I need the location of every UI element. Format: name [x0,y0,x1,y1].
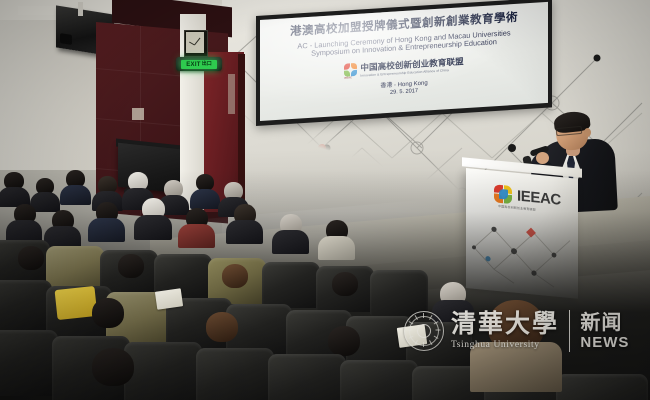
conference-photo-scene: EXIT 出口 港澳高校加盟授牌儀式暨創新創業教育學術 AC - Launchi… [0,0,650,400]
attendee-head [206,312,238,342]
watermark-divider [569,310,570,352]
attendee-head [118,254,144,278]
attendee-head [92,298,124,328]
foreground-attendee-head [92,348,134,386]
attendee-head [328,326,360,356]
watermark-news-cjk: 新闻 [580,313,629,333]
projector-arm [78,2,83,16]
ieeac-pinwheel-icon: IEEAC [344,63,357,77]
auditorium-chair[interactable] [0,330,58,396]
projection-screen: 港澳高校加盟授牌儀式暨創新創業教育學術 AC - Launching Cerem… [260,2,548,121]
slide-org-logo-row: IEEAC 中国高校创新创业教育联盟 Innovation & Entrepre… [344,55,463,78]
wall-outlet-plate [132,108,144,120]
attendee-head [222,264,248,288]
attendee-head [332,272,358,296]
attendee-shoulders [272,230,309,254]
watermark: 清華大學 Tsinghua University 新闻 NEWS [404,303,644,359]
watermark-news-block: 新闻 NEWS [580,313,629,350]
attendee-shoulders [318,236,355,260]
audience-seating-area [0,170,650,400]
auditorium-chair[interactable] [124,342,202,400]
auditorium-chair[interactable] [340,360,418,400]
attendee-shoulders [178,224,215,248]
attendee-shoulders [88,218,125,242]
paper-handout [155,288,183,309]
exit-sign-label: EXIT [186,62,201,68]
speaker-ear [584,128,591,137]
watermark-university-cjk: 清華大學 [451,312,559,337]
attendee-shoulders [60,185,91,205]
auditorium-chair[interactable] [556,374,648,400]
ieeac-pinwheel-caption: IEEAC [344,76,351,79]
auditorium-chair[interactable] [0,280,52,334]
speaker-hand [536,152,549,164]
projector-lens [60,33,72,45]
auditorium-chair[interactable] [268,354,346,400]
slide-date: 29. 5. 2017 [390,89,418,98]
exit-sign-cjk-label: 出口 [202,62,212,67]
watermark-news-english: NEWS [580,335,629,350]
door-window [228,74,235,114]
university-seal-icon [404,311,444,351]
watermark-university-block: 清華大學 Tsinghua University [451,312,559,350]
attendee-shoulders [190,189,220,209]
auditorium-chair[interactable] [262,262,320,308]
attendee-head [18,246,44,270]
attendee-shoulders [134,215,172,240]
attendee-shoulders [226,220,263,244]
watermark-university-english: Tsinghua University [451,340,559,350]
auditorium-chair[interactable] [196,348,274,400]
exit-sign: EXIT 出口 [181,60,217,69]
